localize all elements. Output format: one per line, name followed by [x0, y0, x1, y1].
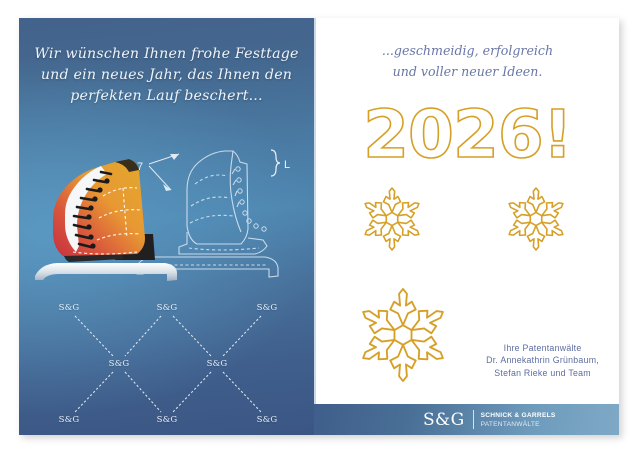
logo-line-2: PATENTANWÄLTE: [481, 420, 556, 429]
lattice-node: S&G: [157, 415, 178, 425]
greeting-line-3: perfekten Lauf beschert...: [19, 86, 314, 107]
ice-skate-illustrations: 7 L: [19, 128, 314, 293]
lattice-node: S&G: [257, 303, 278, 313]
logo-divider: [473, 410, 474, 429]
brace-label: L: [284, 159, 290, 171]
greeting-line-1: Wir wünschen Ihnen frohe Festtage: [19, 44, 314, 65]
footer-logo-bar: S&G SCHNICK & GARRELS PATENTANWÄLTE: [314, 404, 619, 435]
left-blue-panel: Wir wünschen Ihnen frohe Festtage und ei…: [19, 18, 314, 435]
year-wrap: 2026!: [316, 102, 619, 168]
lattice-connector-lines: [19, 294, 314, 435]
signature-block: Ihre Patentanwälte Dr. Annekathrin Grünb…: [486, 342, 599, 380]
logo-line-1: SCHNICK & GARRELS: [481, 411, 556, 420]
signature-line-1: Ihre Patentanwälte: [486, 342, 599, 355]
subhead-line-1: ...geschmeidig, erfolgreich: [316, 40, 619, 61]
right-white-panel: ...geschmeidig, erfolgreich und voller n…: [314, 18, 619, 435]
logo-company-name: SCHNICK & GARRELS PATENTANWÄLTE: [481, 411, 556, 429]
lattice-node: S&G: [157, 303, 178, 313]
greeting-line-2: und ein neues Jahr, das Ihnen den: [19, 65, 314, 86]
subhead-line-2: und voller neuer Ideen.: [316, 61, 619, 82]
snowflake-icon-small-left: [359, 186, 425, 252]
lattice-node: S&G: [207, 359, 228, 369]
lattice-node: S&G: [109, 359, 130, 369]
logo-mark-sg: S&G: [423, 410, 465, 430]
greeting-text: Wir wünschen Ihnen frohe Festtage und ei…: [19, 44, 314, 107]
technical-skate-drawing: [137, 151, 278, 277]
subhead-text: ...geschmeidig, erfolgreich und voller n…: [316, 40, 619, 82]
lattice-node: S&G: [59, 303, 80, 313]
snowflake-icon-small-right: [503, 186, 569, 252]
brace-L-annotation: [271, 150, 280, 176]
sg-lattice-watermark: S&G S&G S&G S&G S&G S&G S&G S&G: [19, 294, 314, 435]
signature-line-2: Dr. Annekathrin Grünbaum,: [486, 354, 599, 367]
year-2026: 2026!: [363, 102, 572, 168]
greeting-card: Wir wünschen Ihnen frohe Festtage und ei…: [19, 18, 619, 435]
signature-line-3: Stefan Rieke und Team: [486, 367, 599, 380]
lattice-node: S&G: [257, 415, 278, 425]
reference-number-7-annotation: [149, 154, 179, 191]
colored-ice-skate: [35, 159, 177, 281]
lattice-node: S&G: [59, 415, 80, 425]
snowflake-icon-large: [354, 286, 452, 384]
